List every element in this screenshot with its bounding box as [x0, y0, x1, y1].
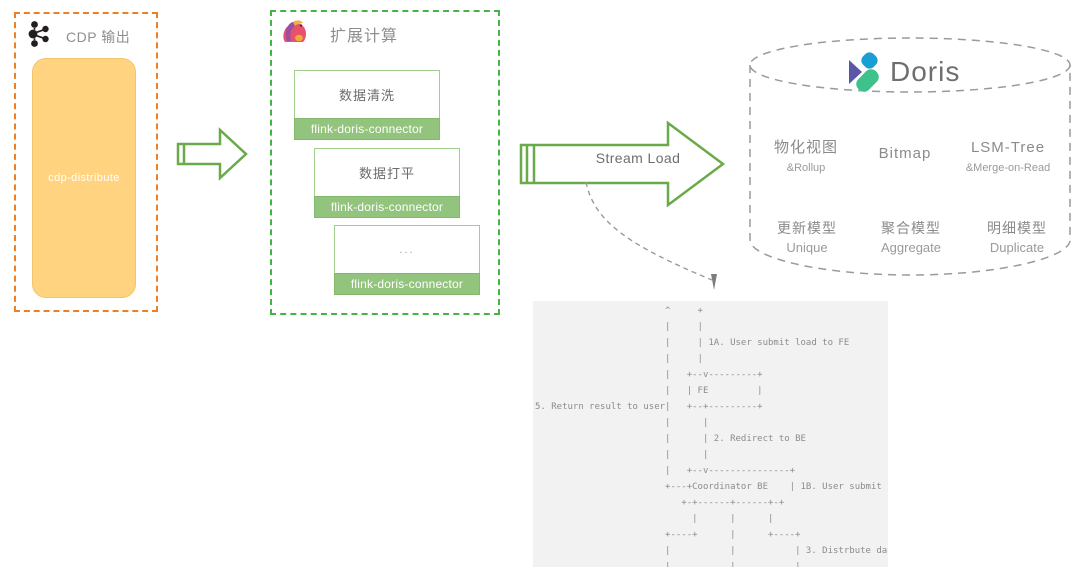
processing-card: 数据清洗 flink-doris-connector: [294, 70, 440, 140]
diagram-canvas: CDP 输出 cdp-distribute 扩展计算 数据清洗 flink-do…: [0, 0, 1080, 576]
doris-feature-en: Duplicate: [958, 238, 1076, 258]
processing-card-body: 数据打平: [314, 148, 460, 196]
doris-logo: [846, 52, 884, 92]
processing-card: 数据打平 flink-doris-connector: [314, 148, 460, 218]
processing-card-footer: flink-doris-connector: [294, 118, 440, 140]
processing-card-body: ...: [334, 225, 480, 273]
processing-card-title: 数据清洗: [339, 85, 395, 104]
processing-card-body: 数据清洗: [294, 70, 440, 118]
doris-feature-lsm-tree: LSM-Tree &Merge-on-Read: [944, 138, 1072, 178]
cdp-distribute-label: cdp-distribute: [32, 172, 136, 184]
stream-load-flow-panel: ^ + | | | | 1A. User submit load to FE |…: [533, 301, 888, 567]
doris-feature-en: Aggregate: [852, 238, 970, 258]
flink-panel-title: 扩展计算: [330, 22, 398, 46]
connector-label: flink-doris-connector: [311, 122, 423, 136]
doris-title: Doris: [890, 56, 960, 88]
doris-feature-unique: 更新模型 Unique: [748, 218, 866, 258]
doris-feature-en: Unique: [748, 238, 866, 258]
processing-card-title: 数据打平: [359, 163, 415, 182]
connector-label: flink-doris-connector: [331, 200, 443, 214]
doris-feature-en: &Rollup: [746, 158, 866, 178]
processing-card-footer: flink-doris-connector: [314, 196, 460, 218]
cdp-panel-title: CDP 输出: [66, 27, 130, 47]
doris-feature-cn: 明细模型: [958, 218, 1076, 238]
kafka-icon: [26, 20, 54, 48]
stream-load-ascii-diagram: ^ + | | | | 1A. User submit load to FE |…: [535, 303, 888, 567]
doris-feature-cn: 更新模型: [748, 218, 866, 238]
doris-feature-aggregate: 聚合模型 Aggregate: [852, 218, 970, 258]
doris-feature-cn: 聚合模型: [852, 218, 970, 238]
doris-feature-duplicate: 明细模型 Duplicate: [958, 218, 1076, 258]
stream-load-label: Stream Load: [568, 150, 708, 166]
doris-feature-cn: LSM-Tree: [944, 138, 1072, 158]
processing-card-footer: flink-doris-connector: [334, 273, 480, 295]
doris-feature-materialized-view: 物化视图 &Rollup: [746, 138, 866, 178]
doris-feature-en: &Merge-on-Read: [944, 158, 1072, 178]
doris-feature-cn: 物化视图: [746, 138, 866, 158]
arrow-cdp-to-flink: [176, 124, 250, 184]
flink-squirrel-icon: [279, 18, 309, 46]
connector-label: flink-doris-connector: [351, 277, 463, 291]
stream-load-detail-connector: [560, 180, 730, 305]
processing-card-title: ...: [399, 244, 414, 256]
processing-card: ... flink-doris-connector: [334, 225, 480, 295]
